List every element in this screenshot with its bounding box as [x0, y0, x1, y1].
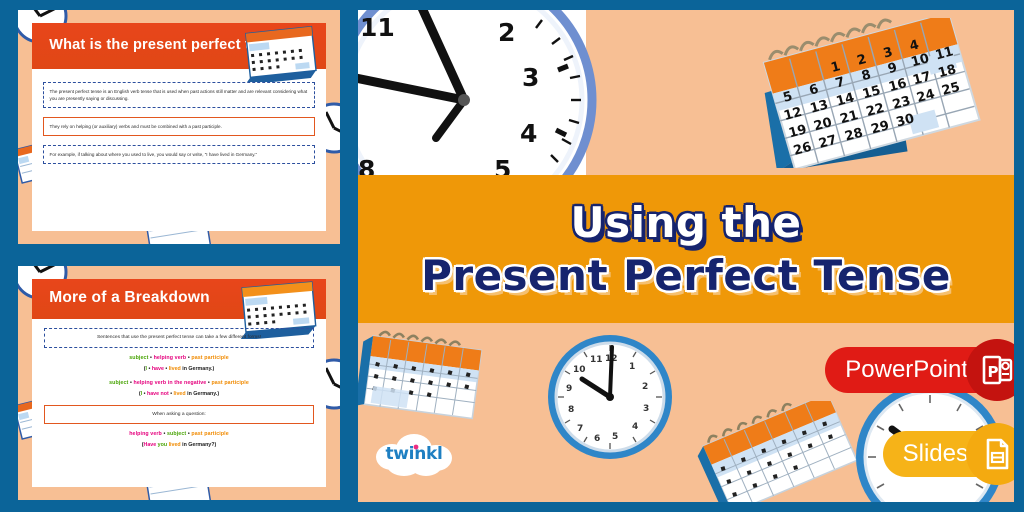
slide1-textbox-2: They rely on helping (or auxiliary) verb…	[43, 117, 316, 136]
svg-text:3: 3	[522, 63, 539, 92]
svg-text:5: 5	[494, 155, 511, 175]
text-run-past_participle: past participle	[191, 431, 228, 437]
text-run-helping_verb: helping verb	[154, 355, 187, 361]
svg-text:9: 9	[566, 384, 572, 394]
text-run-helping_verb: have not	[147, 391, 169, 397]
svg-text:8: 8	[358, 155, 375, 175]
example-line: (I • have • lived in Germany.)	[44, 366, 315, 372]
main-top-decor: 11 2 3 4 5 8	[358, 10, 1014, 175]
text-run-plain: in Germany.)	[186, 391, 219, 397]
desk-calendar-icon: 1 2 3 4 5 6 7 8 9 10 11 12 13 14	[748, 18, 998, 168]
google-slides-doc-icon	[966, 423, 1014, 485]
svg-text:4: 4	[632, 422, 638, 432]
main-preview-panel[interactable]: 11 2 3 4 5 8	[358, 10, 1014, 502]
svg-text:4: 4	[520, 119, 537, 148]
clock-face-icon: 11 2 3 4 5 8	[358, 10, 616, 175]
text-run-subject: you	[158, 442, 167, 448]
svg-text:8: 8	[568, 405, 574, 415]
text-run-subject: subject	[109, 380, 128, 386]
svg-text:2: 2	[642, 382, 648, 392]
slide1-textbox-1: The present perfect tense is an English …	[43, 82, 316, 108]
main-title-line-2: Present Perfect Tense	[421, 251, 951, 300]
powerpoint-badge-label: PowerPoint	[845, 356, 968, 384]
text-run-past_participle: lived	[174, 391, 186, 397]
slides-badge-label: Slides	[903, 440, 968, 468]
desk-calendar-icon	[688, 401, 863, 502]
text-run-plain: in Germany?)	[181, 442, 217, 448]
slide1-title: What is the present perfect tense?	[32, 38, 293, 54]
text-run-past_participle: lived	[169, 366, 181, 372]
svg-text:6: 6	[594, 434, 600, 444]
slide1-textbox-3: For example, if talking about where you …	[43, 145, 316, 164]
slide1-content: The present perfect tense is an English …	[32, 69, 327, 231]
text-run-subject: subject	[129, 355, 148, 361]
text-run-helping_verb: Have	[144, 442, 157, 448]
text-run-past_participle: lived	[169, 442, 181, 448]
title-banner: Using the Present Perfect Tense	[358, 175, 1014, 323]
slide2-intro-box: Sentences that use the present perfect t…	[44, 328, 315, 348]
text-run-past_participle: past participle	[211, 380, 248, 386]
wall-clock-icon: 1212 345 678 91011	[544, 331, 676, 463]
text-run-plain: in Germany.)	[181, 366, 214, 372]
main-title-line-1: Using the	[570, 198, 801, 247]
svg-text:11: 11	[360, 13, 395, 42]
formula-line: subject • helping verb in the negative •…	[44, 380, 315, 386]
text-run-helping_verb: helping verb in the negative	[133, 380, 206, 386]
example-line: (I • have not • lived in Germany.)	[44, 391, 315, 397]
text-run-subject: subject	[167, 431, 186, 437]
slide1-page: What is the present perfect tense?	[32, 23, 327, 231]
slides-badge[interactable]: Slides	[883, 431, 1014, 477]
svg-text:10: 10	[573, 365, 586, 375]
svg-text:7: 7	[577, 424, 583, 434]
svg-text:5: 5	[612, 432, 618, 442]
desk-calendar-icon	[358, 325, 504, 430]
pattern-group-3: helping verb • subject • past participle…	[44, 431, 315, 448]
svg-text:1: 1	[629, 362, 635, 372]
slide2-question-box: When asking a question:	[44, 405, 315, 424]
svg-text:11: 11	[590, 355, 603, 365]
powerpoint-badge[interactable]: PowerPoint P	[825, 347, 1014, 393]
formula-line: subject • helping verb • past participle	[44, 355, 315, 361]
slide-thumbnail-2[interactable]: More of a Breakdown	[18, 266, 340, 500]
twinkl-logo: twinkl	[372, 431, 456, 479]
svg-text:3: 3	[643, 404, 649, 414]
screenshot-root: What is the present perfect tense?	[0, 0, 1024, 512]
powerpoint-icon: P	[966, 339, 1014, 401]
pattern-group-1: subject • helping verb • past participle…	[44, 355, 315, 372]
slide1-header-banner: What is the present perfect tense?	[32, 23, 327, 69]
text-run-helping_verb: helping verb	[129, 431, 162, 437]
slide-thumbnail-1[interactable]: What is the present perfect tense?	[18, 10, 340, 244]
example-line: (Have you lived in Germany?)	[44, 442, 315, 448]
slide2-header-banner: More of a Breakdown	[32, 279, 327, 319]
twinkl-wordmark: twinkl	[372, 444, 456, 464]
svg-text:2: 2	[498, 18, 515, 47]
slide2-title: More of a Breakdown	[32, 290, 210, 307]
text-run-helping_verb: have	[152, 366, 164, 372]
formula-line: helping verb • subject • past participle	[44, 431, 315, 437]
slide2-content: Sentences that use the present perfect t…	[32, 319, 327, 487]
pattern-group-2: subject • helping verb in the negative •…	[44, 380, 315, 397]
text-run-past_participle: past participle	[191, 355, 228, 361]
svg-text:P: P	[988, 363, 999, 381]
slide2-page: More of a Breakdown	[32, 279, 327, 487]
